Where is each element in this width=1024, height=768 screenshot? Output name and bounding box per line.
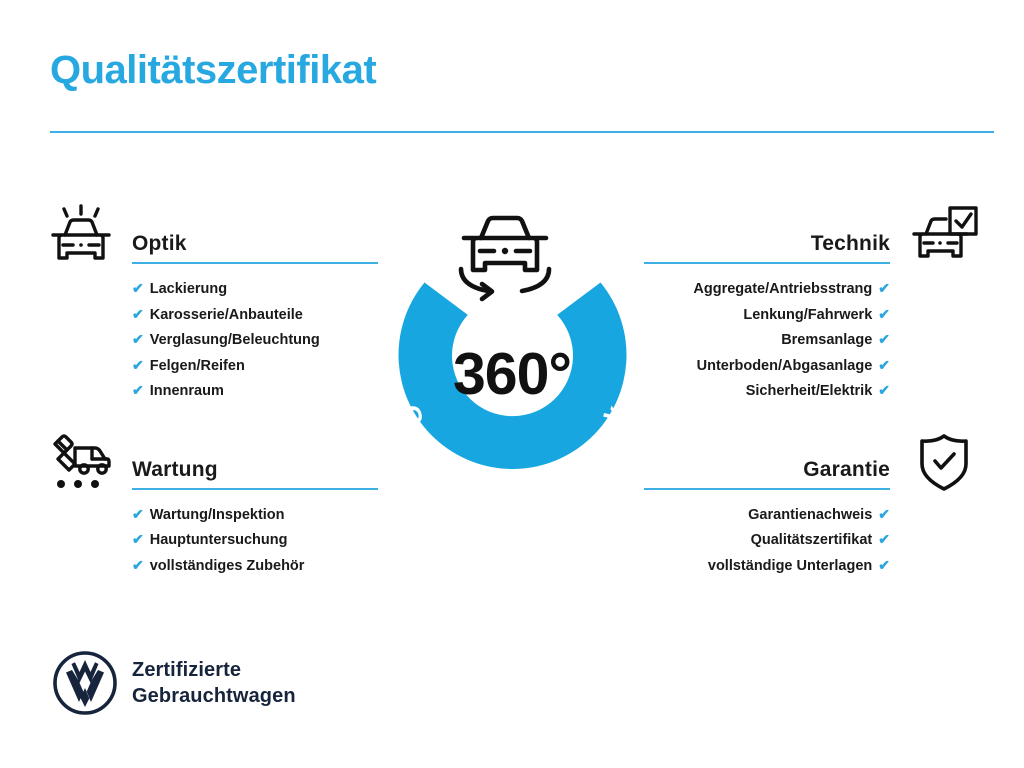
check-icon: ✔ bbox=[878, 531, 890, 547]
check-icon: ✔ bbox=[878, 506, 890, 522]
list-item-label: Qualitätszertifikat bbox=[751, 532, 873, 548]
list-item-label: Garantienachweis bbox=[748, 507, 872, 523]
list-item: ✔Wartung/Inspektion bbox=[132, 502, 465, 528]
list-item-label: Unterboden/Abgasanlage bbox=[697, 358, 873, 374]
car-front-lights-icon bbox=[45, 204, 117, 270]
section-title: Wartung bbox=[132, 458, 218, 482]
footer-logo: Zertifizierte Gebrauchtwagen bbox=[52, 650, 296, 716]
check-icon: ✔ bbox=[132, 331, 144, 347]
list-item-label: Felgen/Reifen bbox=[150, 358, 245, 374]
check-icon: ✔ bbox=[878, 331, 890, 347]
footer-line-1: Zertifizierte bbox=[132, 657, 296, 683]
check-icon: ✔ bbox=[132, 306, 144, 322]
page-title: Qualitätszertifikat bbox=[50, 48, 376, 92]
checklist-wartung: ✔Wartung/Inspektion ✔Hauptuntersuchung ✔… bbox=[45, 490, 465, 579]
list-item: Garantienachweis✔ bbox=[560, 502, 890, 528]
car-checkbox-icon bbox=[908, 204, 980, 270]
list-item-label: Lenkung/Fahrwerk bbox=[743, 307, 872, 323]
section-divider bbox=[644, 488, 890, 490]
section-divider bbox=[132, 262, 378, 264]
check-icon: ✔ bbox=[132, 531, 144, 547]
shield-check-icon bbox=[908, 430, 980, 496]
list-item-label: Hauptuntersuchung bbox=[150, 532, 288, 548]
car-rotation-icon bbox=[461, 218, 549, 299]
check-icon: ✔ bbox=[878, 557, 890, 573]
list-item: Qualitätszertifikat✔ bbox=[560, 527, 890, 553]
badge-center-label: 360° bbox=[453, 341, 571, 407]
list-item-label: Lackierung bbox=[150, 281, 227, 297]
check-icon: ✔ bbox=[132, 506, 144, 522]
list-item: ✔vollständiges Zubehör bbox=[132, 553, 465, 579]
list-item-label: Verglasung/Beleuchtung bbox=[150, 332, 320, 348]
list-item-label: Karosserie/Anbauteile bbox=[150, 307, 303, 323]
check-icon: ✔ bbox=[878, 280, 890, 296]
section-title: Garantie bbox=[803, 458, 890, 482]
badge-360-check: Gebrauchtwagen-Check 360° bbox=[370, 196, 655, 496]
footer-text: Zertifizierte Gebrauchtwagen bbox=[132, 657, 296, 709]
check-icon: ✔ bbox=[878, 357, 890, 373]
title-divider bbox=[50, 131, 994, 133]
section-title: Technik bbox=[811, 232, 890, 256]
list-item-label: Sicherheit/Elektrik bbox=[746, 383, 873, 399]
list-item-label: vollständige Unterlagen bbox=[708, 558, 872, 574]
check-icon: ✔ bbox=[132, 382, 144, 398]
list-item-label: Aggregate/Antriebsstrang bbox=[693, 281, 872, 297]
list-item-label: Bremsanlage bbox=[781, 332, 872, 348]
list-item: ✔Hauptuntersuchung bbox=[132, 527, 465, 553]
vw-logo-icon bbox=[52, 650, 118, 716]
section-divider bbox=[132, 488, 378, 490]
check-icon: ✔ bbox=[132, 557, 144, 573]
check-icon: ✔ bbox=[878, 382, 890, 398]
section-title: Optik bbox=[132, 232, 187, 256]
list-item-label: vollständiges Zubehör bbox=[150, 558, 305, 574]
check-icon: ✔ bbox=[132, 280, 144, 296]
check-icon: ✔ bbox=[878, 306, 890, 322]
list-item-label: Wartung/Inspektion bbox=[150, 507, 285, 523]
certificate-page: Qualitätszertifikat bbox=[0, 0, 1024, 768]
footer-line-2: Gebrauchtwagen bbox=[132, 683, 296, 709]
list-item-label: Innenraum bbox=[150, 383, 224, 399]
section-divider bbox=[644, 262, 890, 264]
service-pencil-car-icon bbox=[45, 430, 117, 496]
list-item: vollständige Unterlagen✔ bbox=[560, 553, 890, 579]
checklist-garantie: Garantienachweis✔ Qualitätszertifikat✔ v… bbox=[560, 490, 980, 579]
check-icon: ✔ bbox=[132, 357, 144, 373]
